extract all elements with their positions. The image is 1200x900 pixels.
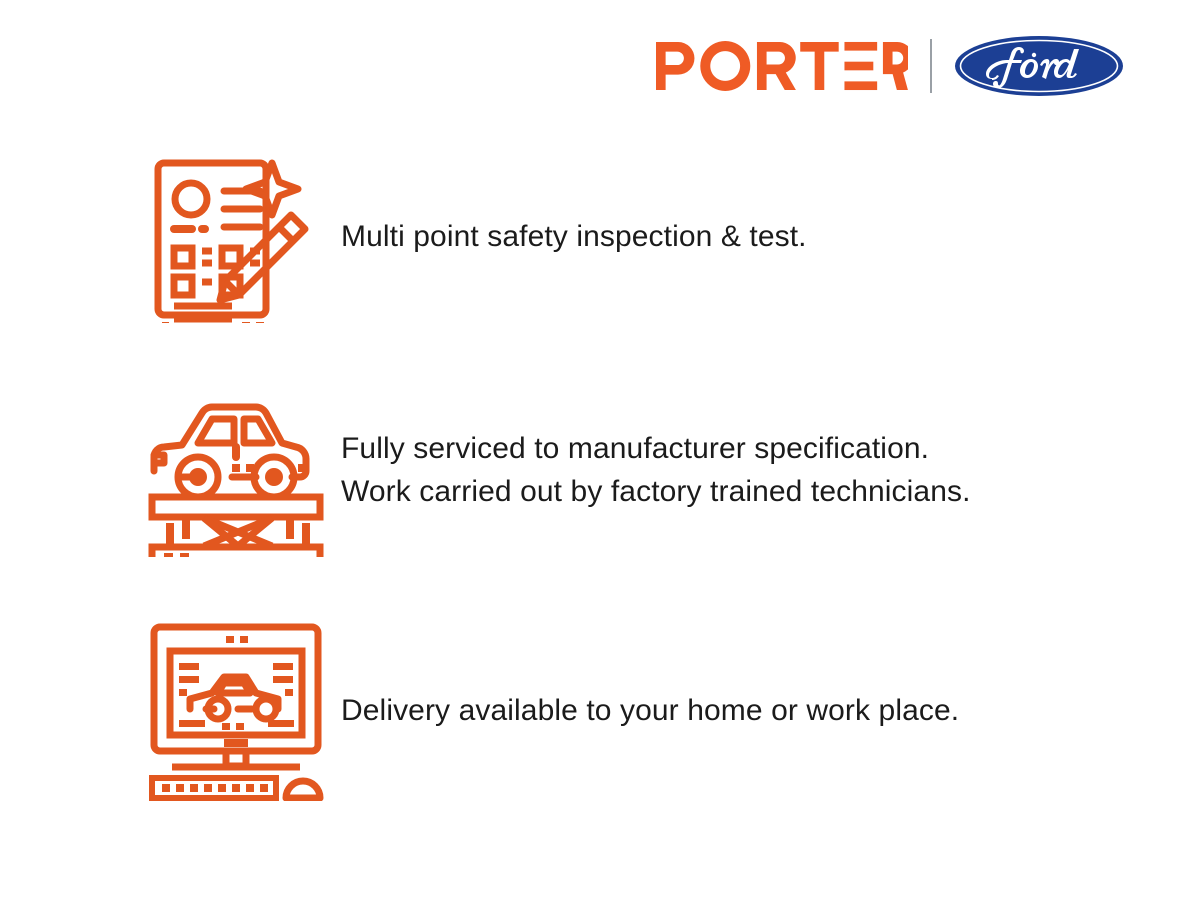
feature-row: Multi point safety inspection & test. [146,148,1146,326]
ford-logo [954,35,1124,97]
car-on-scissor-lift-icon [146,385,326,557]
clipboard-checklist-pencil-icon [146,151,318,323]
feature-row: Fully serviced to manufacturer specifica… [146,382,1146,560]
brand-header [656,32,1124,100]
feature-list: Multi point safety inspection & test. [146,148,1146,800]
porter-logo [656,41,908,91]
feature-row: Delivery available to your home or work … [146,622,1146,800]
feature-text-1: Multi point safety inspection & test. [332,216,1146,259]
brand-divider [930,39,932,93]
feature-icon-2 [146,385,332,557]
feature-text-3: Delivery available to your home or work … [332,690,1146,733]
monitor-car-delivery-icon [146,621,326,801]
feature-text-2: Fully serviced to manufacturer specifica… [332,428,1146,513]
feature-icon-3 [146,621,332,801]
feature-icon-1 [146,151,332,323]
